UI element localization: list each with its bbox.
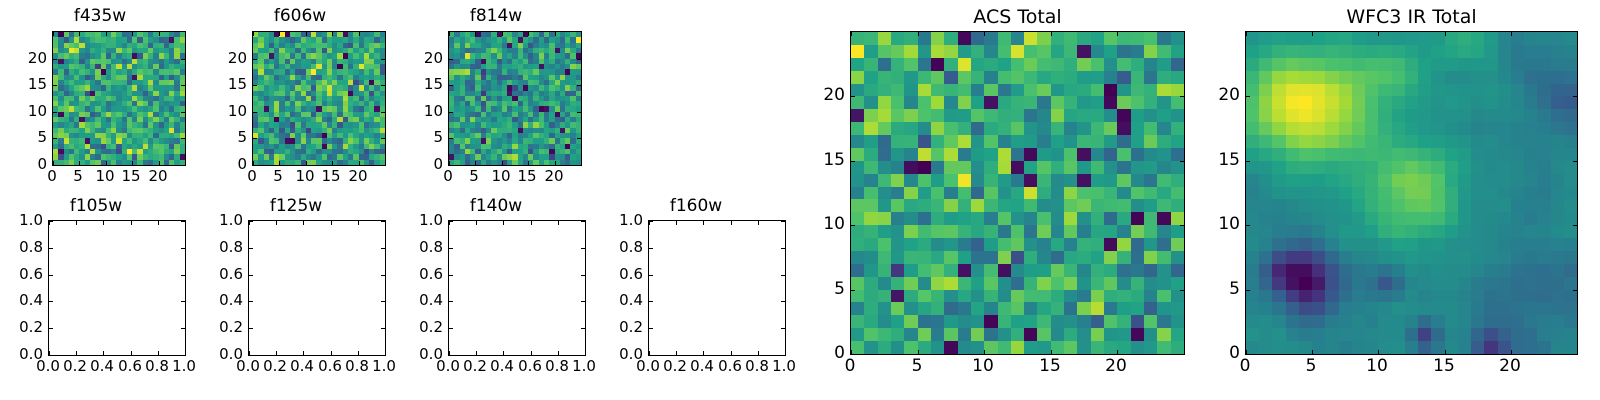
panel-title: WFC3 IR Total: [1245, 6, 1578, 28]
x-tick-label: 0.8: [745, 357, 769, 375]
x-tick-label: 10: [1366, 356, 1388, 376]
x-tick-mark: [1051, 350, 1052, 354]
y-tick-mark: [49, 221, 53, 222]
y-tick-mark: [449, 355, 453, 356]
x-tick-mark: [851, 32, 852, 36]
y-tick-label: 5: [200, 128, 247, 146]
y-tick-mark: [181, 248, 185, 249]
y-tick-mark: [649, 248, 653, 249]
x-tick-label: 5: [73, 167, 83, 185]
x-tick-mark: [158, 221, 159, 225]
panel-f606w: f606w 0510152005101520: [200, 0, 400, 190]
y-tick-mark: [253, 138, 257, 139]
x-tick-mark: [185, 351, 186, 355]
y-tick-label: 5: [800, 279, 845, 299]
y-tick-mark: [249, 275, 253, 276]
y-tick-mark: [49, 355, 53, 356]
y-tick-label: 0.2: [596, 318, 643, 336]
x-tick-mark: [449, 32, 450, 36]
x-tick-mark: [1312, 350, 1313, 354]
y-tick-mark: [53, 165, 57, 166]
x-tick-mark: [332, 161, 333, 165]
y-tick-mark: [577, 112, 581, 113]
y-tick-mark: [781, 221, 785, 222]
panel-f140w: f140w 0.00.20.40.60.81.00.00.20.40.60.81…: [396, 190, 596, 400]
panel-acs-total: ACS Total 0510152005101520: [800, 0, 1200, 400]
y-tick-mark: [249, 328, 253, 329]
y-tick-mark: [381, 165, 385, 166]
x-tick-mark: [385, 221, 386, 225]
y-tick-label: 0: [396, 155, 443, 173]
x-tick-mark: [585, 221, 586, 225]
y-tick-mark: [449, 301, 453, 302]
x-tick-label: 0.8: [345, 357, 369, 375]
y-tick-label: 0.2: [0, 318, 43, 336]
x-tick-mark: [132, 161, 133, 165]
axes-f160w[interactable]: [648, 220, 786, 356]
y-tick-label: 0.8: [196, 238, 243, 256]
y-tick-mark: [851, 290, 855, 291]
y-tick-mark: [53, 112, 57, 113]
panel-title: f814w: [396, 6, 596, 26]
y-tick-label: 20: [1195, 85, 1240, 105]
x-tick-mark: [1117, 350, 1118, 354]
heatmap-image: [851, 32, 1184, 354]
x-tick-label: 15: [121, 167, 140, 185]
x-tick-mark: [331, 351, 332, 355]
panel-f125w: f125w 0.00.20.40.60.81.00.00.20.40.60.81…: [196, 190, 396, 400]
y-tick-label: 0.8: [396, 238, 443, 256]
y-tick-mark: [449, 59, 453, 60]
axes-wfc3-ir-total[interactable]: [1245, 31, 1578, 355]
y-tick-label: 10: [1195, 214, 1240, 234]
x-tick-label: 10: [95, 167, 114, 185]
y-tick-mark: [851, 354, 855, 355]
y-tick-label: 0.6: [196, 265, 243, 283]
y-tick-mark: [649, 221, 653, 222]
y-tick-mark: [381, 301, 385, 302]
x-tick-label: 5: [1306, 356, 1317, 376]
panel-f814w: f814w 0510152005101520: [396, 0, 596, 190]
x-tick-label: 0.6: [518, 357, 542, 375]
y-tick-mark: [577, 59, 581, 60]
y-tick-mark: [253, 112, 257, 113]
x-tick-mark: [253, 32, 254, 36]
x-tick-label: 10: [491, 167, 510, 185]
y-tick-mark: [649, 275, 653, 276]
x-tick-mark: [103, 351, 104, 355]
y-tick-mark: [381, 275, 385, 276]
y-tick-mark: [577, 85, 581, 86]
y-tick-mark: [1573, 225, 1577, 226]
y-tick-mark: [1573, 161, 1577, 162]
heatmap-image: [253, 32, 385, 165]
x-tick-mark: [1378, 32, 1379, 36]
x-tick-mark: [1117, 32, 1118, 36]
x-tick-mark: [303, 351, 304, 355]
y-tick-label: 15: [200, 75, 247, 93]
y-tick-mark: [1573, 290, 1577, 291]
x-tick-label: 5: [273, 167, 283, 185]
y-tick-label: 0: [800, 343, 845, 363]
y-tick-label: 20: [800, 85, 845, 105]
y-tick-mark: [181, 355, 185, 356]
y-tick-mark: [181, 138, 185, 139]
x-tick-mark: [1511, 350, 1512, 354]
y-tick-label: 0: [1195, 343, 1240, 363]
y-tick-label: 0.2: [396, 318, 443, 336]
x-tick-mark: [159, 32, 160, 36]
y-tick-label: 20: [396, 49, 443, 67]
x-tick-label: 1.0: [572, 357, 596, 375]
y-tick-mark: [181, 165, 185, 166]
y-tick-mark: [181, 112, 185, 113]
y-tick-mark: [253, 59, 257, 60]
x-tick-mark: [731, 351, 732, 355]
x-tick-label: 10: [972, 356, 994, 376]
y-tick-label: 0.4: [596, 291, 643, 309]
x-tick-mark: [303, 221, 304, 225]
x-tick-mark: [676, 221, 677, 225]
y-tick-mark: [851, 161, 855, 162]
y-tick-mark: [781, 328, 785, 329]
x-tick-mark: [358, 221, 359, 225]
x-tick-mark: [502, 32, 503, 36]
y-tick-mark: [581, 301, 585, 302]
y-tick-mark: [449, 221, 453, 222]
x-tick-label: 15: [1433, 356, 1455, 376]
x-tick-label: 0.8: [545, 357, 569, 375]
y-tick-label: 10: [200, 102, 247, 120]
y-tick-mark: [1246, 96, 1250, 97]
x-tick-mark: [758, 221, 759, 225]
y-tick-label: 0.0: [396, 345, 443, 363]
y-tick-label: 10: [396, 102, 443, 120]
x-tick-mark: [276, 351, 277, 355]
x-tick-label: 15: [1039, 356, 1061, 376]
y-tick-mark: [53, 138, 57, 139]
x-tick-mark: [131, 351, 132, 355]
x-tick-label: 0: [845, 356, 856, 376]
y-tick-mark: [181, 275, 185, 276]
x-tick-mark: [1378, 350, 1379, 354]
axes-f435w[interactable]: [52, 31, 186, 166]
y-tick-label: 0.0: [196, 345, 243, 363]
y-tick-label: 0.2: [196, 318, 243, 336]
y-tick-mark: [1180, 290, 1184, 291]
y-tick-mark: [581, 221, 585, 222]
x-tick-mark: [502, 161, 503, 165]
x-tick-mark: [103, 221, 104, 225]
y-tick-mark: [649, 328, 653, 329]
x-tick-label: 0.8: [145, 357, 169, 375]
axes-f140w[interactable]: [448, 220, 586, 356]
x-tick-mark: [731, 221, 732, 225]
x-tick-mark: [1051, 32, 1052, 36]
y-tick-mark: [181, 301, 185, 302]
x-tick-mark: [555, 161, 556, 165]
panel-f105w: f105w 0.00.20.40.60.81.00.00.20.40.60.81…: [0, 190, 196, 400]
x-tick-label: 20: [148, 167, 167, 185]
x-tick-label: 0.4: [690, 357, 714, 375]
y-tick-mark: [181, 59, 185, 60]
x-tick-mark: [558, 221, 559, 225]
y-tick-mark: [381, 355, 385, 356]
x-tick-mark: [1511, 32, 1512, 36]
y-tick-mark: [1246, 225, 1250, 226]
y-tick-mark: [381, 248, 385, 249]
y-tick-mark: [381, 85, 385, 86]
y-tick-label: 1.0: [396, 211, 443, 229]
x-tick-mark: [785, 221, 786, 225]
x-tick-mark: [385, 351, 386, 355]
y-tick-mark: [577, 165, 581, 166]
x-tick-mark: [758, 351, 759, 355]
x-tick-mark: [279, 161, 280, 165]
x-tick-label: 0.2: [63, 357, 87, 375]
panel-f160w: f160w 0.00.20.40.60.81.00.00.20.40.60.81…: [596, 190, 796, 400]
axes-f105w[interactable]: [48, 220, 186, 356]
y-tick-mark: [449, 165, 453, 166]
x-tick-mark: [1246, 32, 1247, 36]
y-tick-label: 0.0: [0, 345, 43, 363]
y-tick-mark: [49, 328, 53, 329]
y-tick-mark: [449, 85, 453, 86]
y-tick-mark: [253, 165, 257, 166]
y-tick-mark: [1180, 225, 1184, 226]
y-tick-mark: [249, 221, 253, 222]
y-tick-mark: [1180, 354, 1184, 355]
y-tick-mark: [249, 355, 253, 356]
panel-wfc3-ir-total: WFC3 IR Total 0510152005101520: [1195, 0, 1600, 400]
x-tick-label: 20: [1499, 356, 1521, 376]
y-tick-label: 15: [0, 75, 47, 93]
x-tick-mark: [359, 32, 360, 36]
x-tick-mark: [79, 161, 80, 165]
x-tick-mark: [106, 161, 107, 165]
y-tick-mark: [49, 301, 53, 302]
y-tick-mark: [181, 85, 185, 86]
y-tick-mark: [181, 221, 185, 222]
axes-f814w[interactable]: [448, 31, 582, 166]
y-tick-label: 10: [0, 102, 47, 120]
x-tick-label: 20: [348, 167, 367, 185]
x-tick-label: 0.4: [90, 357, 114, 375]
y-tick-label: 1.0: [0, 211, 43, 229]
y-tick-mark: [851, 225, 855, 226]
y-tick-mark: [581, 355, 585, 356]
x-tick-label: 0.2: [463, 357, 487, 375]
x-tick-mark: [306, 32, 307, 36]
y-tick-mark: [781, 248, 785, 249]
y-tick-mark: [781, 355, 785, 356]
y-tick-label: 5: [0, 128, 47, 146]
y-tick-label: 5: [1195, 279, 1240, 299]
panel-f435w: f435w 0510152005101520: [0, 0, 200, 190]
x-tick-label: 1.0: [172, 357, 196, 375]
axes-f125w[interactable]: [248, 220, 386, 356]
y-tick-mark: [1573, 354, 1577, 355]
y-tick-mark: [181, 328, 185, 329]
y-tick-mark: [449, 328, 453, 329]
x-tick-label: 0: [1240, 356, 1251, 376]
x-tick-mark: [1445, 350, 1446, 354]
x-tick-label: 0: [247, 167, 257, 185]
y-tick-mark: [1246, 290, 1250, 291]
heatmap-image: [53, 32, 185, 165]
x-tick-mark: [918, 32, 919, 36]
x-tick-label: 0: [443, 167, 453, 185]
y-tick-label: 0.8: [0, 238, 43, 256]
x-tick-label: 0: [47, 167, 57, 185]
y-tick-label: 1.0: [596, 211, 643, 229]
y-tick-mark: [581, 248, 585, 249]
x-tick-label: 0.2: [263, 357, 287, 375]
y-tick-mark: [781, 301, 785, 302]
y-tick-mark: [53, 59, 57, 60]
y-tick-label: 15: [1195, 150, 1240, 170]
x-tick-mark: [132, 32, 133, 36]
x-tick-mark: [76, 221, 77, 225]
x-tick-mark: [276, 221, 277, 225]
x-tick-mark: [331, 221, 332, 225]
y-tick-label: 0.0: [596, 345, 643, 363]
x-tick-mark: [1312, 32, 1313, 36]
y-tick-mark: [49, 275, 53, 276]
x-tick-mark: [1445, 32, 1446, 36]
x-tick-mark: [503, 221, 504, 225]
y-tick-label: 20: [0, 49, 47, 67]
y-tick-mark: [1180, 96, 1184, 97]
heatmap-image: [1246, 32, 1577, 354]
y-tick-mark: [253, 85, 257, 86]
y-tick-label: 0.4: [196, 291, 243, 309]
x-tick-mark: [703, 351, 704, 355]
x-tick-mark: [785, 351, 786, 355]
x-tick-mark: [359, 161, 360, 165]
y-tick-mark: [449, 248, 453, 249]
y-tick-label: 0.4: [396, 291, 443, 309]
y-tick-mark: [381, 221, 385, 222]
x-tick-mark: [703, 221, 704, 225]
y-tick-mark: [381, 59, 385, 60]
y-tick-mark: [381, 112, 385, 113]
x-tick-mark: [131, 221, 132, 225]
y-tick-mark: [249, 248, 253, 249]
x-tick-label: 0.4: [490, 357, 514, 375]
panel-title: f435w: [0, 6, 200, 26]
y-tick-mark: [577, 138, 581, 139]
y-tick-label: 10: [800, 214, 845, 234]
x-tick-mark: [76, 351, 77, 355]
panel-title: ACS Total: [850, 6, 1185, 28]
x-tick-mark: [158, 351, 159, 355]
x-tick-mark: [475, 32, 476, 36]
x-tick-mark: [358, 351, 359, 355]
y-tick-label: 0.6: [396, 265, 443, 283]
axes-acs-total[interactable]: [850, 31, 1185, 355]
x-tick-mark: [528, 32, 529, 36]
x-tick-mark: [306, 161, 307, 165]
x-tick-mark: [676, 351, 677, 355]
axes-f606w[interactable]: [252, 31, 386, 166]
x-tick-label: 0.6: [718, 357, 742, 375]
x-tick-mark: [475, 161, 476, 165]
x-tick-label: 0.2: [663, 357, 687, 375]
x-tick-mark: [984, 32, 985, 36]
y-tick-label: 0.6: [596, 265, 643, 283]
x-tick-mark: [555, 32, 556, 36]
x-tick-mark: [476, 221, 477, 225]
x-tick-mark: [53, 32, 54, 36]
y-tick-mark: [249, 301, 253, 302]
y-tick-mark: [1180, 161, 1184, 162]
x-tick-mark: [185, 221, 186, 225]
y-tick-mark: [381, 328, 385, 329]
y-tick-mark: [449, 138, 453, 139]
y-tick-label: 1.0: [196, 211, 243, 229]
x-tick-label: 20: [544, 167, 563, 185]
x-tick-label: 5: [912, 356, 923, 376]
x-tick-mark: [984, 350, 985, 354]
x-tick-label: 15: [517, 167, 536, 185]
y-tick-mark: [53, 85, 57, 86]
x-tick-label: 1.0: [772, 357, 796, 375]
y-tick-label: 5: [396, 128, 443, 146]
x-tick-mark: [918, 350, 919, 354]
x-tick-mark: [531, 221, 532, 225]
x-tick-mark: [79, 32, 80, 36]
y-tick-mark: [649, 301, 653, 302]
x-tick-mark: [558, 351, 559, 355]
y-tick-label: 0: [200, 155, 247, 173]
y-tick-mark: [1573, 96, 1577, 97]
x-tick-mark: [332, 32, 333, 36]
x-tick-label: 0.4: [290, 357, 314, 375]
y-tick-mark: [1246, 354, 1250, 355]
x-tick-label: 0.6: [318, 357, 342, 375]
y-tick-label: 20: [200, 49, 247, 67]
y-tick-mark: [581, 275, 585, 276]
x-tick-mark: [585, 351, 586, 355]
y-tick-label: 0: [0, 155, 47, 173]
x-tick-mark: [476, 351, 477, 355]
y-tick-label: 15: [800, 150, 845, 170]
y-tick-label: 0.6: [0, 265, 43, 283]
x-tick-mark: [528, 161, 529, 165]
heatmap-image: [449, 32, 581, 165]
x-tick-mark: [279, 32, 280, 36]
x-tick-label: 1.0: [372, 357, 396, 375]
y-tick-label: 0.4: [0, 291, 43, 309]
y-tick-mark: [449, 112, 453, 113]
x-tick-label: 20: [1105, 356, 1127, 376]
figure-canvas: f435w 0510152005101520 f606w 05101520051…: [0, 0, 1600, 400]
x-tick-mark: [106, 32, 107, 36]
x-tick-mark: [159, 161, 160, 165]
y-tick-mark: [649, 355, 653, 356]
y-tick-label: 0.8: [596, 238, 643, 256]
y-tick-mark: [49, 248, 53, 249]
y-tick-label: 15: [396, 75, 443, 93]
x-tick-mark: [503, 351, 504, 355]
x-tick-label: 15: [321, 167, 340, 185]
x-tick-label: 0.6: [118, 357, 142, 375]
y-tick-mark: [449, 275, 453, 276]
y-tick-mark: [581, 328, 585, 329]
panel-title: f606w: [200, 6, 400, 26]
x-tick-label: 5: [469, 167, 479, 185]
